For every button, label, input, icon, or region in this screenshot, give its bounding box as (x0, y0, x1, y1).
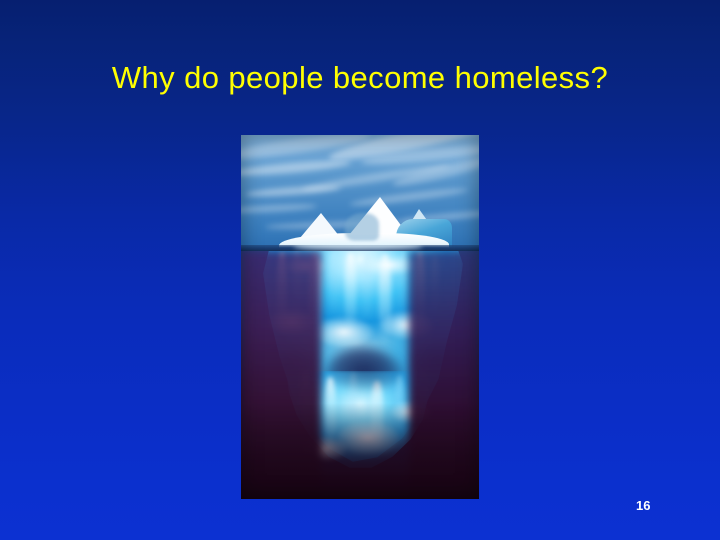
iceberg-photo (241, 135, 479, 499)
slide-page-number: 16 (636, 498, 650, 513)
iceberg-tip-above-water (241, 135, 479, 251)
page-title: Why do people become homeless? (0, 58, 720, 98)
surface-reflection (293, 243, 423, 250)
iceberg-mass-below-water (241, 251, 479, 499)
presentation-slide: Why do people become homeless? (0, 0, 720, 540)
